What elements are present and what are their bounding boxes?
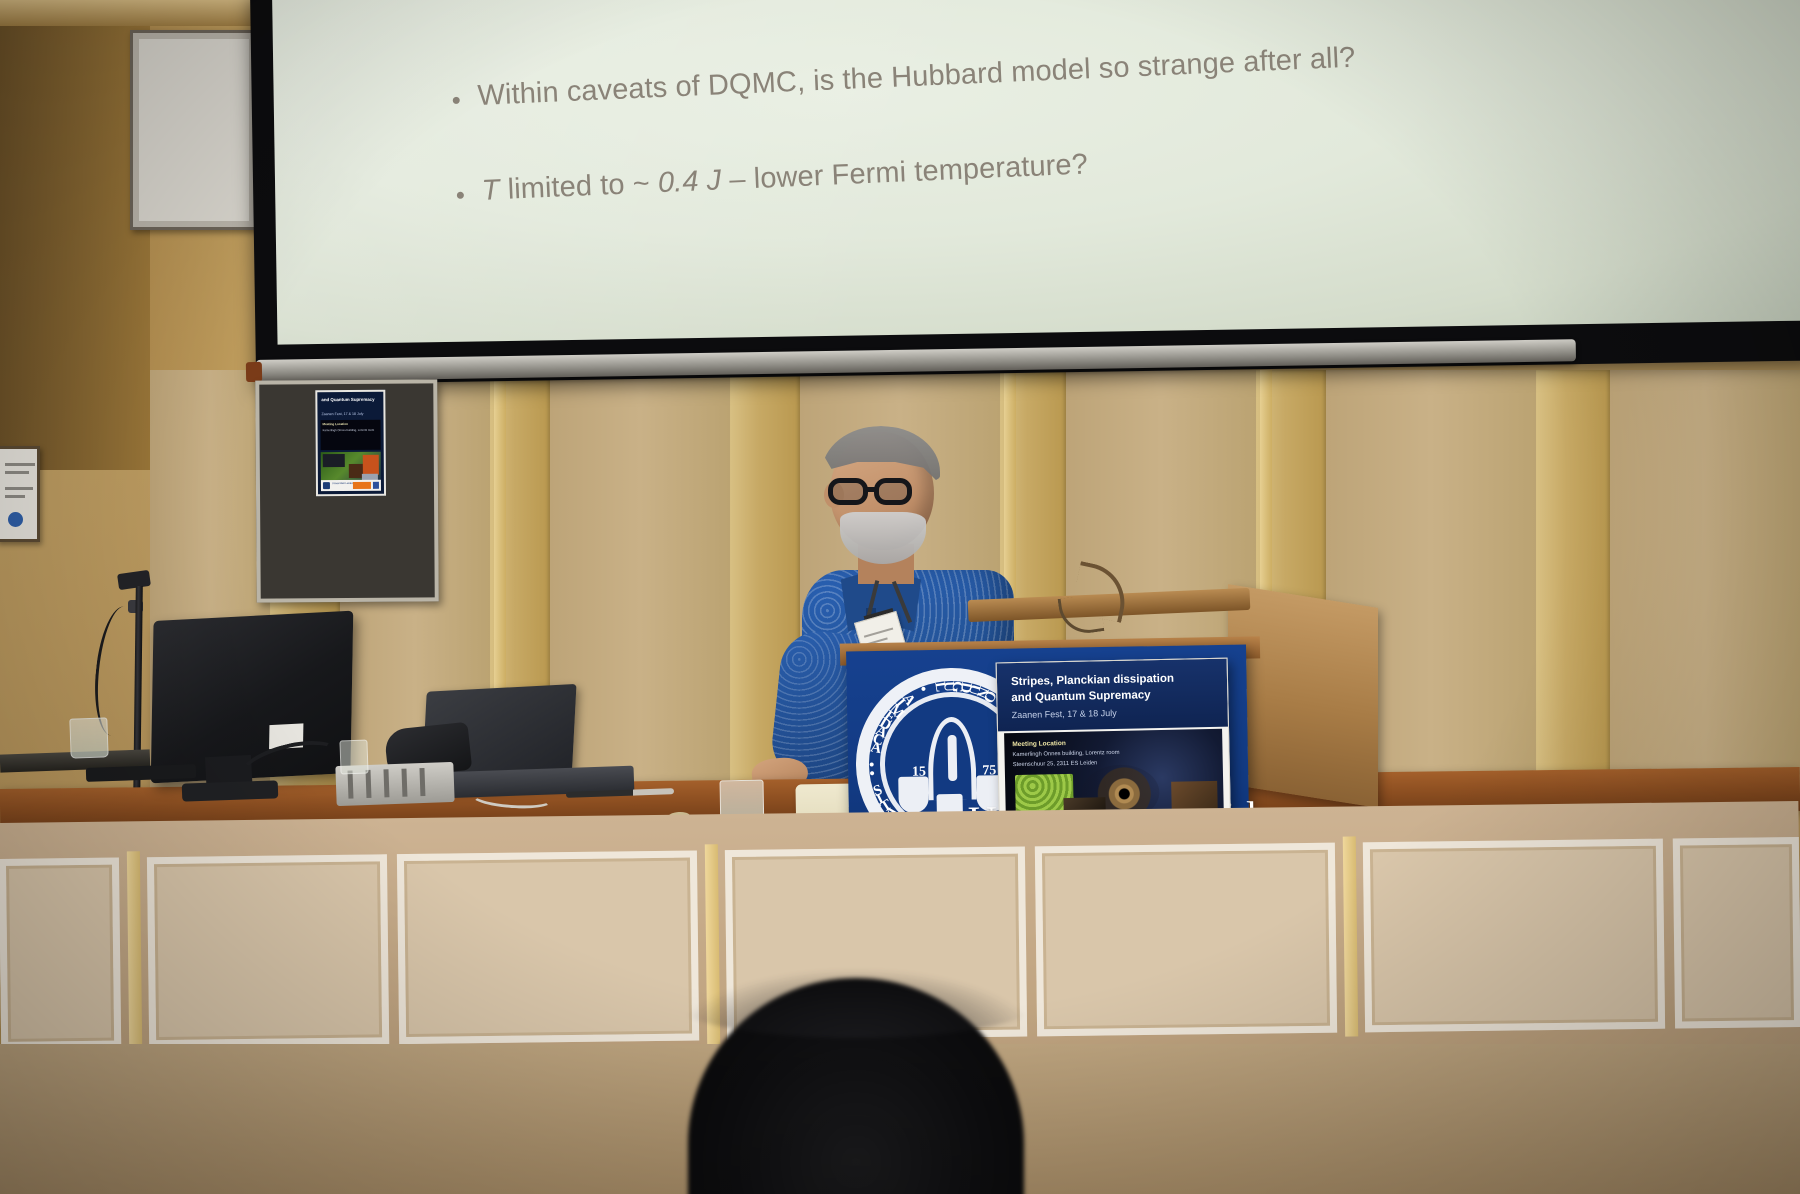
seal-ring-char: • <box>913 684 931 695</box>
slide-bullet-1-text: Within caveats of DQMC, is the Hubbard m… <box>477 42 1356 113</box>
screen-roller-end-cap <box>246 362 262 382</box>
board-poster-uni-name: Universiteit Leiden <box>332 482 353 485</box>
drinking-glass-left <box>69 717 108 758</box>
slide-bullet-2-symbol-T: T <box>481 174 500 207</box>
slide-bullet-2-tail: – lower Fermi temperature? <box>721 148 1089 196</box>
board-poster-uni-logo-icon <box>323 482 330 489</box>
seal-ring-char: S <box>871 782 885 801</box>
poster-title: Stripes, Planckian dissipation and Quant… <box>1011 670 1220 707</box>
board-poster-sponsor-badge <box>353 482 371 489</box>
eyeglasses-icon <box>828 478 924 506</box>
board-poster-title-line2: and Quantum Supremacy <box>321 397 380 403</box>
board-poster-subtitle: Zaanen Fest, 17 & 18 July <box>321 412 363 416</box>
wall-left-shadow <box>0 0 150 470</box>
notice-sheet <box>139 39 249 221</box>
wall-notice-frame <box>130 30 258 230</box>
board-poster-footer: Universiteit Leiden <box>321 480 381 491</box>
lectern-wood-side <box>1228 584 1378 808</box>
audience-member-head <box>688 978 1024 1194</box>
board-conference-poster: and Quantum Supremacy Zaanen Fest, 17 & … <box>315 390 386 496</box>
slide-bullet-2: T limited to ~ 0.4 J – lower Fermi tempe… <box>456 125 1616 209</box>
slide-bullet-1: Within caveats of DQMC, is the Hubbard m… <box>452 30 1612 114</box>
board-poster-dark-band: Meeting Location Kamerlingh Onnes buildi… <box>321 420 381 450</box>
sign-logo-dot <box>8 512 23 527</box>
bullet-point-icon <box>457 192 464 199</box>
seal-ring-char: • <box>869 766 876 784</box>
bullet-point-icon <box>453 97 460 104</box>
drinking-glass-mid <box>339 740 368 775</box>
wall-sign-frame <box>0 446 40 542</box>
screen-surface: Within caveats of DQMC, is the Hubbard m… <box>272 0 1800 345</box>
board-poster-location-heading: Meeting Location <box>323 422 348 426</box>
lecture-hall-photo: Within caveats of DQMC, is the Hubbard m… <box>0 0 1800 1194</box>
board-poster-location-line1: Kamerlingh Onnes building, Lorentz room <box>323 428 379 433</box>
slide-bullet-2-mid: limited to ~ <box>499 167 659 206</box>
board-poster-sponsor-badge-2 <box>373 482 379 489</box>
wall-display-board: and Quantum Supremacy Zaanen Fest, 17 & … <box>255 379 439 602</box>
slide-bullet-2-value: 0.4 J <box>657 164 722 199</box>
poster-location-heading: Meeting Location <box>1012 740 1066 748</box>
slide-content: Within caveats of DQMC, is the Hubbard m… <box>452 30 1616 208</box>
projection-screen: Within caveats of DQMC, is the Hubbard m… <box>250 0 1800 385</box>
